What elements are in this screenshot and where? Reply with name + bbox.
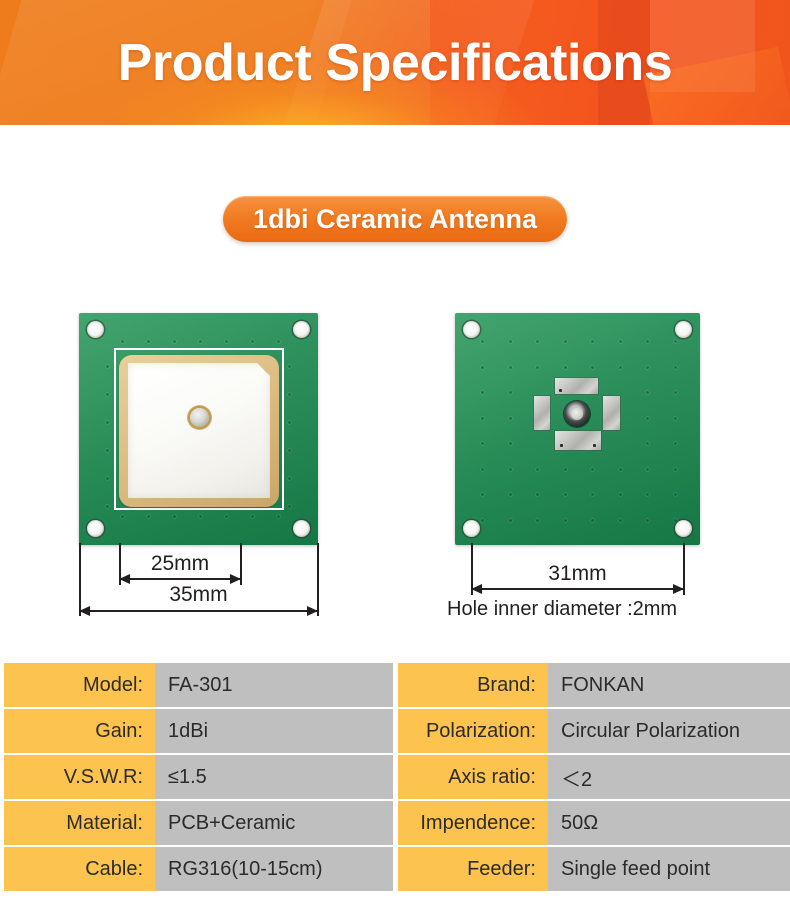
table-value-cell: FONKAN	[548, 663, 790, 707]
table-cell-group-right: Axis ratio:＜2	[398, 755, 790, 799]
table-label-cell: Axis ratio:	[398, 755, 548, 799]
table-value-cell: 1dBi	[155, 709, 393, 753]
table-value-cell: 50Ω	[548, 801, 790, 845]
page-title: Product Specifications	[0, 0, 790, 125]
table-row: Gain:1dBiPolarization:Circular Polarizat…	[0, 709, 790, 753]
table-value-cell: FA-301	[155, 663, 393, 707]
table-cell-group-right: Impendence:50Ω	[398, 801, 790, 845]
dim-label-25mm: 25mm	[119, 552, 241, 576]
table-row: V.S.W.R:≤1.5Axis ratio:＜2	[0, 755, 790, 799]
table-cell-group-left: Gain:1dBi	[0, 709, 393, 753]
dimension-annotations: 25mm 35mm 31mm Hole inner diameter :2mm	[0, 300, 790, 640]
dim-arrow-31mm	[471, 588, 684, 590]
table-value-cell: PCB+Ceramic	[155, 801, 393, 845]
dim-label-35mm: 35mm	[79, 583, 318, 607]
table-row: Model:FA-301Brand:FONKAN	[0, 663, 790, 707]
table-cell-group-right: Feeder:Single feed point	[398, 847, 790, 891]
product-name-badge: 1dbi Ceramic Antenna	[223, 196, 567, 242]
table-row: Cable:RG316(10-15cm)Feeder:Single feed p…	[0, 847, 790, 891]
table-label-cell: Polarization:	[398, 709, 548, 753]
table-label-cell: Gain:	[4, 709, 155, 753]
table-cell-group-left: Material:PCB+Ceramic	[0, 801, 393, 845]
table-cell-group-left: Model:FA-301	[0, 663, 393, 707]
dim-label-31mm: 31mm	[471, 562, 684, 586]
table-cell-group-right: Polarization:Circular Polarization	[398, 709, 790, 753]
table-label-cell: V.S.W.R:	[4, 755, 155, 799]
table-label-cell: Material:	[4, 801, 155, 845]
table-value-cell: Circular Polarization	[548, 709, 790, 753]
table-value-cell: ≤1.5	[155, 755, 393, 799]
dim-arrow-35mm	[79, 610, 318, 612]
table-value-cell: RG316(10-15cm)	[155, 847, 393, 891]
table-label-cell: Cable:	[4, 847, 155, 891]
table-value-cell: ＜2	[548, 755, 790, 799]
table-row: Material:PCB+CeramicImpendence:50Ω	[0, 801, 790, 845]
hole-diameter-note: Hole inner diameter :2mm	[447, 598, 677, 621]
specification-table: Model:FA-301Brand:FONKANGain:1dBiPolariz…	[0, 663, 790, 893]
page-header: Product Specifications	[0, 0, 790, 125]
table-value-cell: Single feed point	[548, 847, 790, 891]
table-label-cell: Brand:	[398, 663, 548, 707]
table-label-cell: Feeder:	[398, 847, 548, 891]
table-label-cell: Impendence:	[398, 801, 548, 845]
table-cell-group-left: V.S.W.R:≤1.5	[0, 755, 393, 799]
table-label-cell: Model:	[4, 663, 155, 707]
table-cell-group-right: Brand:FONKAN	[398, 663, 790, 707]
product-name-badge-wrap: 1dbi Ceramic Antenna	[0, 196, 790, 242]
table-cell-group-left: Cable:RG316(10-15cm)	[0, 847, 393, 891]
dim-arrow-25mm	[119, 578, 241, 580]
